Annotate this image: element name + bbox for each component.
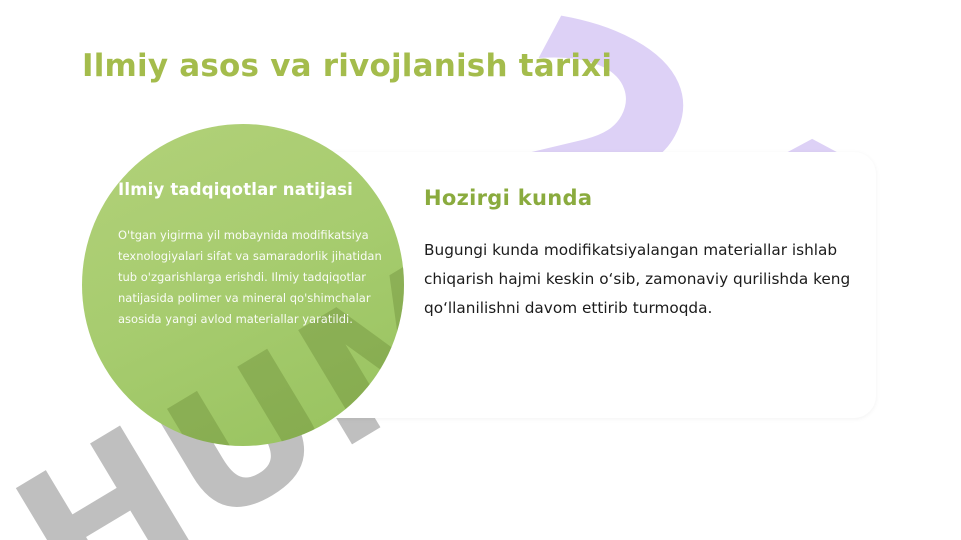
green-circle-panel: HUMO Ilmiy tadqiqotlar natijasi O'tgan y… (82, 124, 404, 446)
right-column: Hozirgi kunda Bugungi kunda modifikatsiy… (424, 186, 852, 322)
circle-heading: Ilmiy tadqiqotlar natijasi (118, 180, 386, 199)
circle-content: Ilmiy tadqiqotlar natijasi O'tgan yigirm… (118, 180, 386, 330)
right-heading: Hozirgi kunda (424, 186, 852, 210)
slide-canvas: 24 HUMO Ilmiy asos va rivojlanish tarixi… (0, 0, 961, 540)
right-body-text: Bugungi kunda modifikatsiyalangan materi… (424, 236, 852, 322)
circle-body-text: O'tgan yigirma yil mobaynida modifikatsi… (118, 225, 386, 330)
page-title: Ilmiy asos va rivojlanish tarixi (82, 48, 612, 84)
